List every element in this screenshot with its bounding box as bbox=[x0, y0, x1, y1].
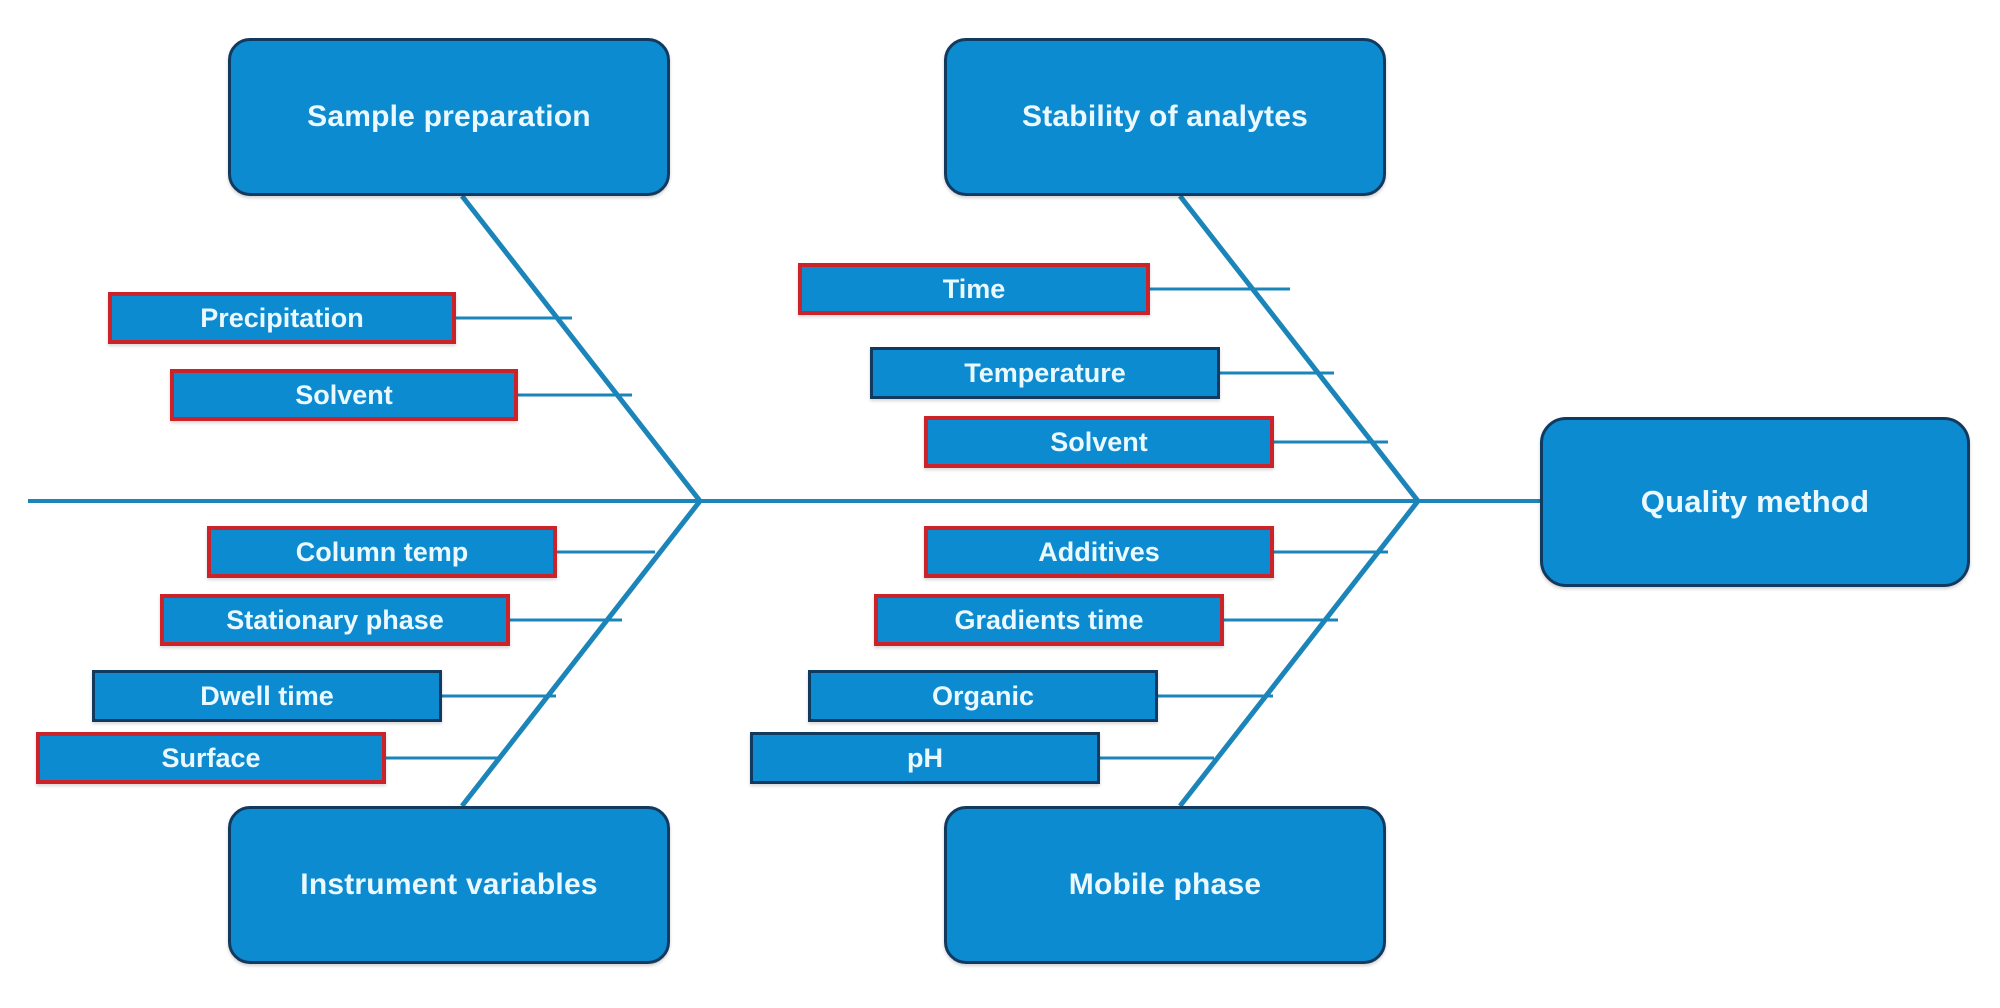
cause-box-column-temp[interactable]: Column temp bbox=[207, 526, 557, 578]
cause-box-dwell-time[interactable]: Dwell time bbox=[92, 670, 442, 722]
cause-label: Organic bbox=[932, 681, 1034, 712]
cause-box-additives[interactable]: Additives bbox=[924, 526, 1274, 578]
fishbone-diagram-canvas: Sample preparation Stability of analytes… bbox=[0, 0, 2000, 1008]
cause-label: Dwell time bbox=[200, 681, 334, 712]
cause-box-stationary-phase[interactable]: Stationary phase bbox=[160, 594, 510, 646]
category-box-sample-preparation[interactable]: Sample preparation bbox=[228, 38, 670, 196]
category-box-mobile-phase[interactable]: Mobile phase bbox=[944, 806, 1386, 964]
category-box-instrument-variables[interactable]: Instrument variables bbox=[228, 806, 670, 964]
cause-box-surface[interactable]: Surface bbox=[36, 732, 386, 784]
cause-box-time[interactable]: Time bbox=[798, 263, 1150, 315]
rib-sample-preparation bbox=[462, 196, 700, 501]
cause-box-solvent-sample-prep[interactable]: Solvent bbox=[170, 369, 518, 421]
cause-label: Temperature bbox=[964, 358, 1126, 389]
effect-label: Quality method bbox=[1641, 484, 1869, 520]
category-box-stability-of-analytes[interactable]: Stability of analytes bbox=[944, 38, 1386, 196]
cause-label: pH bbox=[907, 743, 943, 774]
cause-label: Stationary phase bbox=[226, 605, 444, 636]
cause-box-temperature[interactable]: Temperature bbox=[870, 347, 1220, 399]
cause-box-ph[interactable]: pH bbox=[750, 732, 1100, 784]
cause-label: Time bbox=[943, 274, 1006, 305]
cause-label: Gradients time bbox=[954, 605, 1143, 636]
cause-label: Solvent bbox=[295, 380, 393, 411]
cause-label: Solvent bbox=[1050, 427, 1148, 458]
category-label: Instrument variables bbox=[300, 868, 597, 902]
category-label: Mobile phase bbox=[1069, 868, 1261, 902]
cause-box-solvent-stability[interactable]: Solvent bbox=[924, 416, 1274, 468]
cause-box-organic[interactable]: Organic bbox=[808, 670, 1158, 722]
effect-box-quality-method[interactable]: Quality method bbox=[1540, 417, 1970, 587]
cause-label: Additives bbox=[1038, 537, 1160, 568]
cause-box-gradients-time[interactable]: Gradients time bbox=[874, 594, 1224, 646]
cause-label: Surface bbox=[161, 743, 260, 774]
cause-box-precipitation[interactable]: Precipitation bbox=[108, 292, 456, 344]
category-label: Sample preparation bbox=[307, 100, 591, 134]
cause-label: Column temp bbox=[296, 537, 469, 568]
cause-label: Precipitation bbox=[200, 303, 364, 334]
category-label: Stability of analytes bbox=[1022, 100, 1308, 134]
